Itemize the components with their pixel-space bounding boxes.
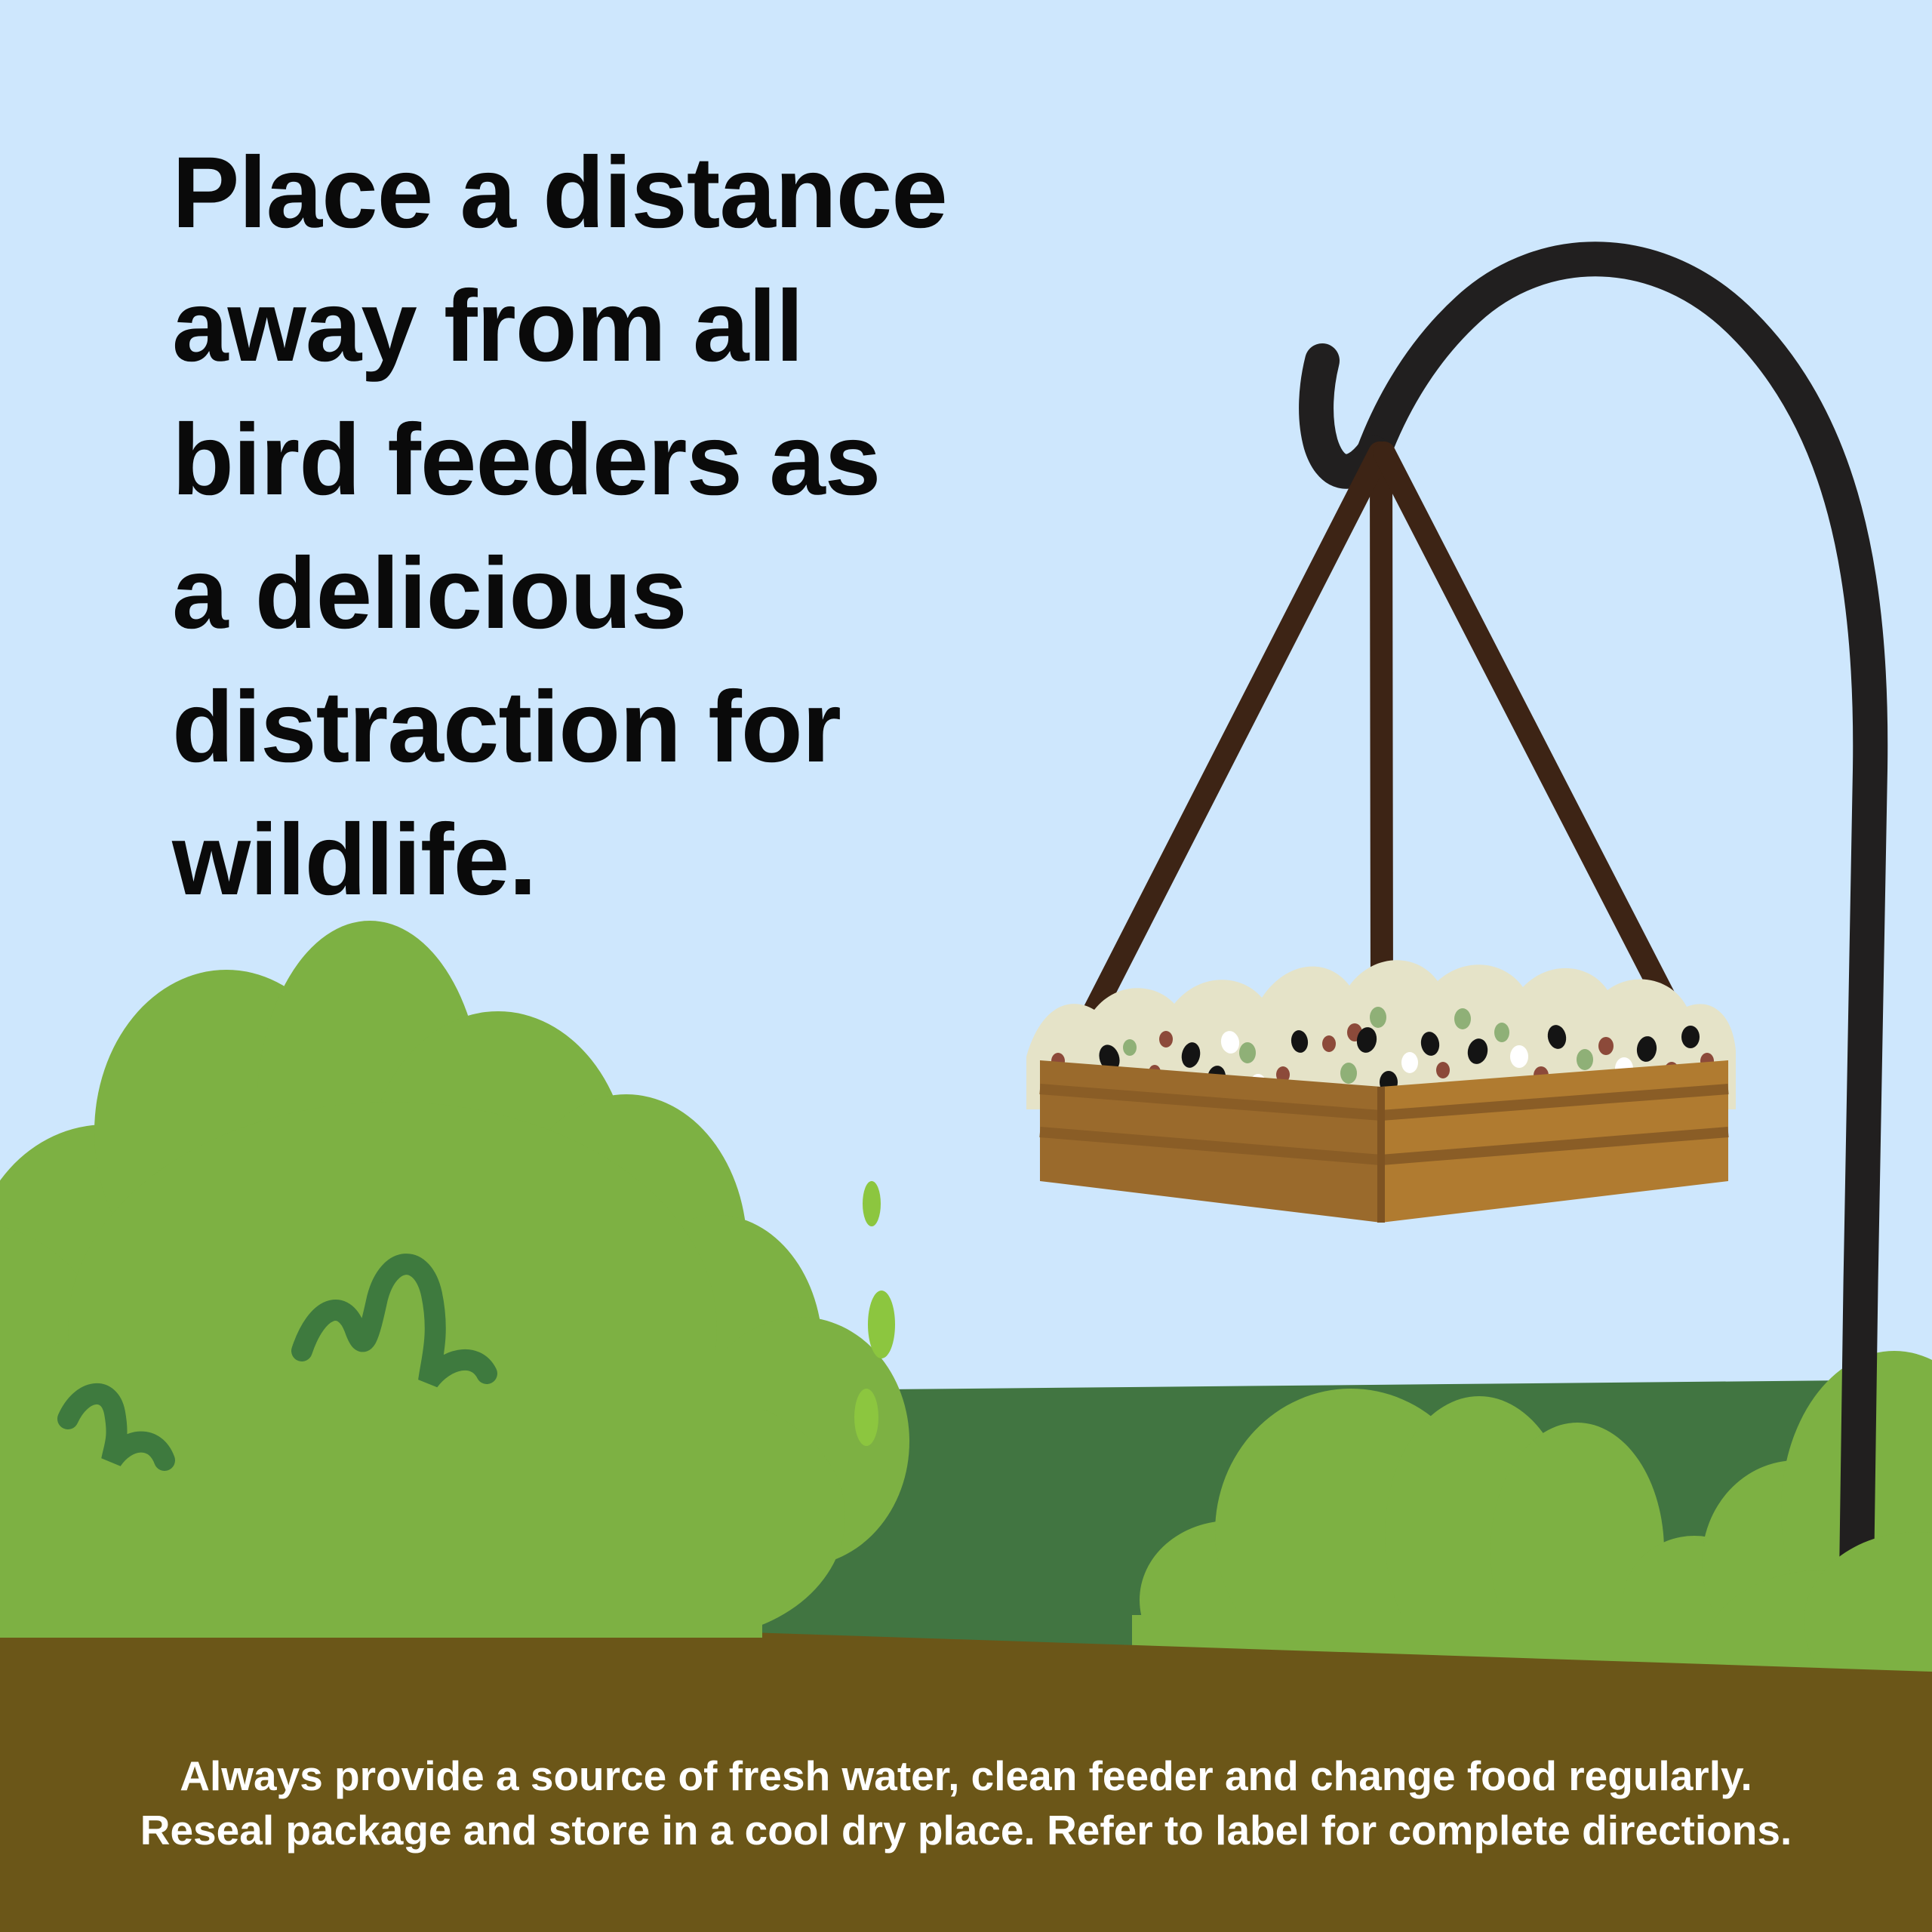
hanging-tray-bird-feeder bbox=[1010, 960, 1736, 1223]
page-title: Place a distance away from all bird feed… bbox=[172, 127, 1123, 928]
seed-speck bbox=[1239, 1042, 1256, 1063]
seed-speck bbox=[1681, 1026, 1700, 1048]
seed-speck bbox=[1454, 1008, 1471, 1029]
seed-speck bbox=[1401, 1052, 1418, 1073]
seed-speck bbox=[1598, 1037, 1614, 1055]
infographic-canvas: Place a distance away from all bird feed… bbox=[0, 0, 1932, 1932]
seed-speck bbox=[1159, 1031, 1173, 1048]
seed-speck bbox=[1494, 1023, 1509, 1042]
seed-speck bbox=[1577, 1049, 1593, 1070]
seed-speck bbox=[1340, 1063, 1357, 1084]
seed-speck bbox=[1123, 1039, 1137, 1056]
seed-speck bbox=[1322, 1035, 1336, 1052]
footer-caption: Always provide a source of fresh water, … bbox=[0, 1749, 1932, 1857]
seed-speck bbox=[1370, 1007, 1386, 1028]
seed-speck bbox=[1436, 1062, 1450, 1078]
seed-speck bbox=[1510, 1045, 1528, 1068]
